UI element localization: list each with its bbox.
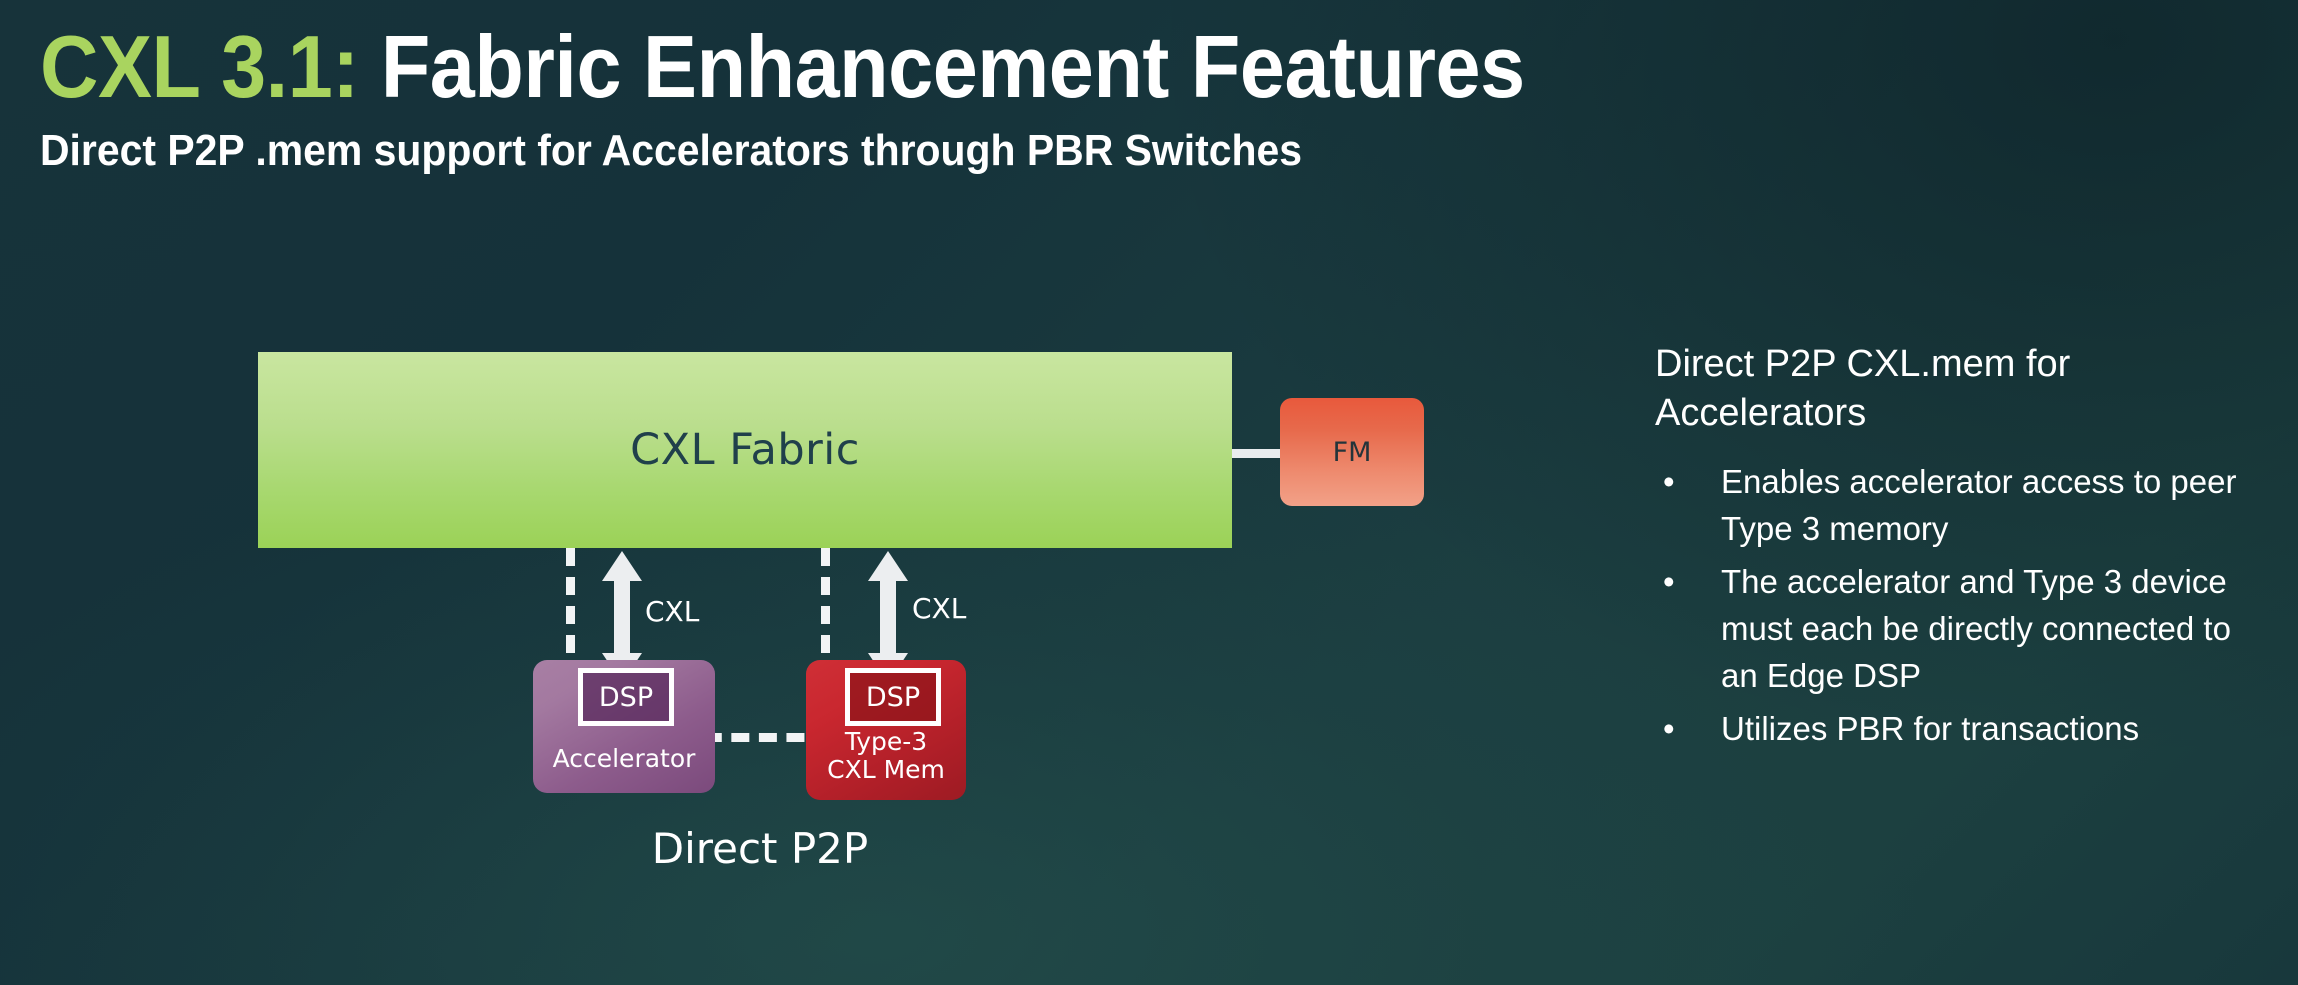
diagram: CXL Fabric FM CXL CXL DSP Accelerator DS… xyxy=(0,0,1560,985)
bullet-item: • Utilizes PBR for transactions xyxy=(1655,706,2265,753)
slide-canvas: CXL 3.1: Fabric Enhancement Features Dir… xyxy=(0,0,2298,985)
bullet-text: Enables accelerator access to peer Type … xyxy=(1721,463,2236,547)
bullet-glyph: • xyxy=(1663,706,1675,753)
bullet-item: • The accelerator and Type 3 device must… xyxy=(1655,559,2265,700)
bullet-list: • Enables accelerator access to peer Typ… xyxy=(1655,459,2265,752)
panel-heading: Direct P2P CXL.mem for Accelerators xyxy=(1655,340,2265,437)
text-panel: Direct P2P CXL.mem for Accelerators • En… xyxy=(1655,340,2265,758)
accelerator-dsp-box: DSP xyxy=(578,668,674,726)
bullet-text: Utilizes PBR for transactions xyxy=(1721,710,2139,747)
type3-cxl-mem-label: Type-3 CXL Mem xyxy=(806,728,966,784)
cxl-fabric-box: CXL Fabric xyxy=(258,352,1232,548)
accelerator-label: Accelerator xyxy=(533,745,715,773)
bullet-glyph: • xyxy=(1663,459,1675,506)
cxl-link-label-right: CXL xyxy=(912,592,966,625)
bullet-glyph: • xyxy=(1663,559,1675,606)
bullet-item: • Enables accelerator access to peer Typ… xyxy=(1655,459,2265,553)
fm-label: FM xyxy=(1280,398,1424,506)
fm-box: FM xyxy=(1280,398,1424,506)
direct-p2p-caption: Direct P2P xyxy=(600,824,920,873)
bullet-text: The accelerator and Type 3 device must e… xyxy=(1721,563,2231,694)
type3-dsp-box: DSP xyxy=(845,668,941,726)
cxl-link-label-left: CXL xyxy=(645,595,699,628)
cxl-fabric-label: CXL Fabric xyxy=(258,352,1232,548)
